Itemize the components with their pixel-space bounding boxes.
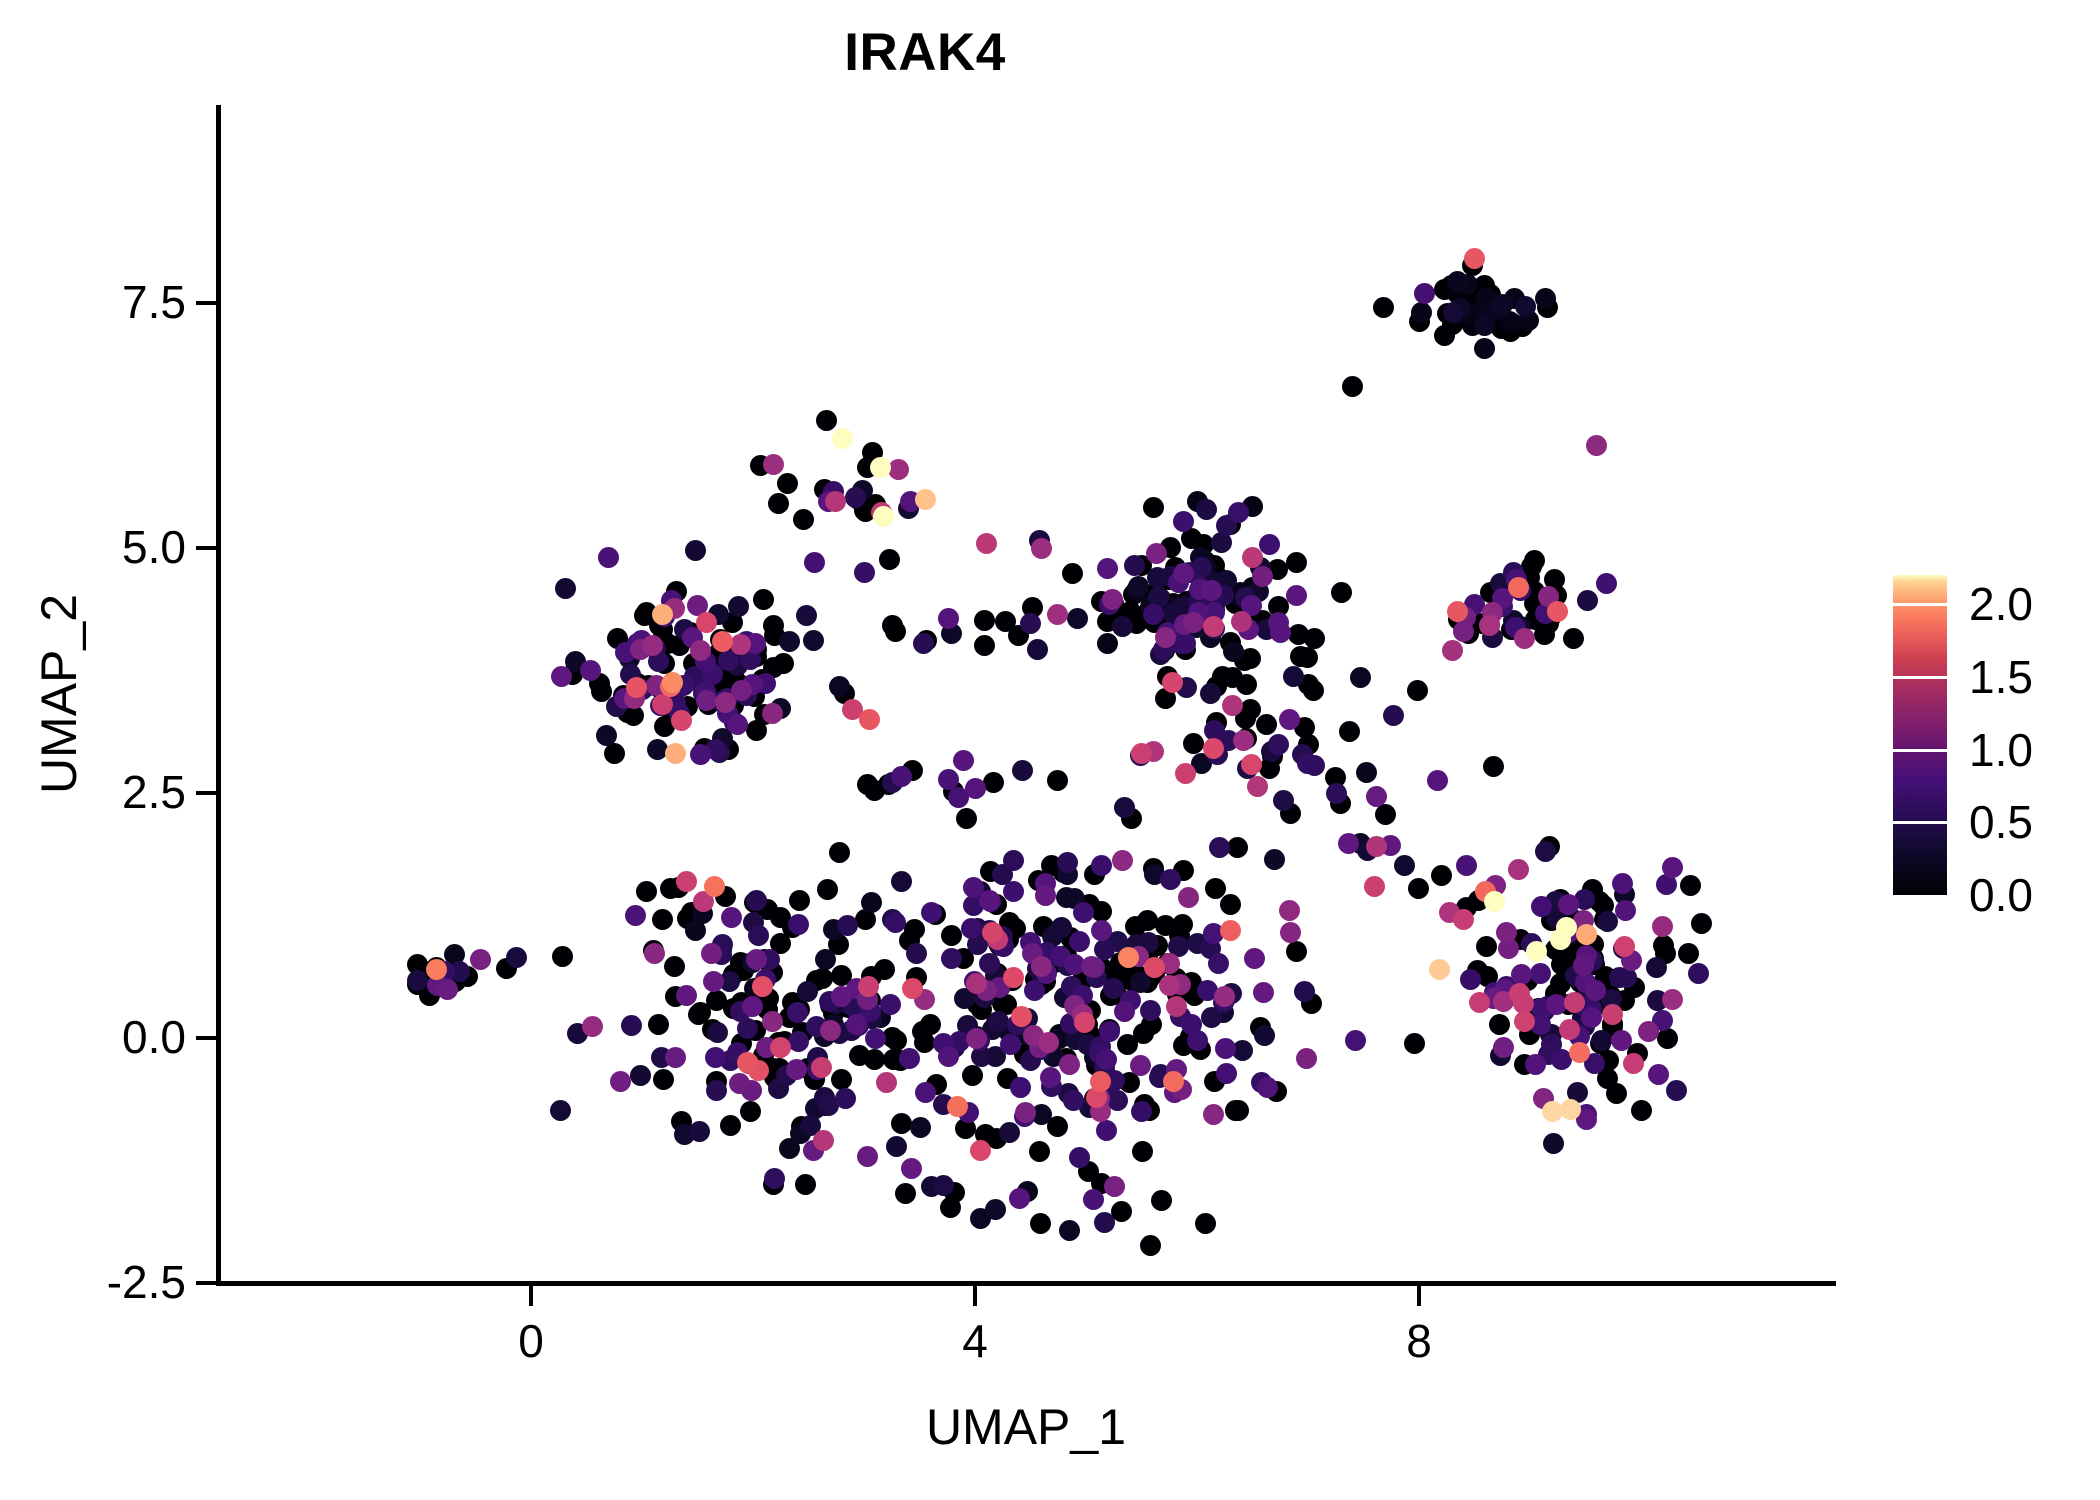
scatter-point: [555, 578, 576, 599]
x-tick-mark: [973, 1286, 977, 1306]
scatter-point: [1535, 841, 1556, 862]
scatter-point: [1003, 967, 1024, 988]
scatter-point: [1375, 804, 1396, 825]
scatter-point: [1526, 941, 1547, 962]
scatter-point: [1130, 1055, 1151, 1076]
scatter-point: [861, 892, 882, 913]
scatter-point: [879, 549, 900, 570]
scatter-point: [1244, 948, 1265, 969]
scatter-point: [1214, 986, 1235, 1007]
scatter-point: [885, 912, 906, 933]
colorbar-legend: 2.01.51.00.50.0: [1893, 575, 2093, 905]
scatter-point: [1146, 543, 1167, 564]
x-tick-mark: [529, 1286, 533, 1306]
scatter-point: [1031, 538, 1052, 559]
scatter-point: [437, 979, 458, 1000]
scatter-point: [1020, 613, 1041, 634]
scatter-point: [1612, 873, 1633, 894]
scatter-point: [1128, 576, 1149, 597]
scatter-point: [1414, 283, 1435, 304]
scatter-point: [1254, 1025, 1275, 1046]
scatter-point: [1143, 497, 1164, 518]
scatter-point: [763, 454, 784, 475]
scatter-point: [915, 1082, 936, 1103]
scatter-point: [1203, 1104, 1224, 1125]
scatter-point: [1059, 1220, 1080, 1241]
scatter-point: [829, 842, 850, 863]
scatter-point: [787, 1002, 808, 1023]
scatter-point: [1124, 555, 1145, 576]
scatter-point: [899, 1048, 920, 1069]
scatter-point: [1350, 667, 1371, 688]
scatter-point: [1394, 855, 1415, 876]
scatter-point: [1270, 622, 1291, 643]
scatter-point: [1453, 909, 1474, 930]
scatter-point: [1543, 1133, 1564, 1154]
scatter-point: [1200, 683, 1221, 704]
scatter-point: [1460, 969, 1481, 990]
scatter-point: [1474, 338, 1495, 359]
scatter-point: [983, 772, 1004, 793]
scatter-point: [685, 540, 706, 561]
scatter-point: [857, 1146, 878, 1167]
scatter-point: [1662, 857, 1683, 878]
scatter-point: [689, 1121, 710, 1142]
scatter-point: [1132, 1141, 1153, 1162]
scatter-point: [803, 630, 824, 651]
x-tick-mark: [1417, 1286, 1421, 1306]
scatter-point: [857, 774, 878, 795]
scatter-point: [1456, 855, 1477, 876]
scatter-point: [1342, 376, 1363, 397]
scatter-point: [1208, 953, 1229, 974]
colorbar-tick-mark: [1893, 821, 1947, 824]
scatter-point: [1220, 920, 1241, 941]
scatter-point: [1009, 1188, 1030, 1209]
scatter-point: [1117, 1034, 1138, 1055]
scatter-point: [652, 909, 673, 930]
scatter-point: [1233, 730, 1254, 751]
scatter-point: [817, 879, 838, 900]
scatter-point: [707, 1022, 728, 1043]
scatter-point: [941, 925, 962, 946]
scatter-point: [1542, 1101, 1563, 1122]
scatter-point: [1151, 1190, 1172, 1211]
scatter-point: [912, 1021, 933, 1042]
scatter-point: [737, 1052, 758, 1073]
scatter-point: [891, 871, 912, 892]
scatter-point: [1514, 628, 1535, 649]
x-tick-label: 4: [915, 1318, 1035, 1364]
scatter-point: [970, 1140, 991, 1161]
scatter-point: [1175, 763, 1196, 784]
scatter-point: [1356, 762, 1377, 783]
scatter-point: [665, 1047, 686, 1068]
scatter-point: [662, 672, 683, 693]
scatter-point: [1447, 271, 1468, 292]
scatter-point: [1183, 733, 1204, 754]
scatter-point: [1059, 1054, 1080, 1075]
scatter-point: [1483, 756, 1504, 777]
scatter-point: [1535, 288, 1556, 309]
scatter-point: [1493, 1037, 1514, 1058]
scatter-point: [1383, 705, 1404, 726]
y-tick-mark: [196, 1281, 216, 1285]
scatter-point: [1496, 922, 1517, 943]
scatter-point: [630, 1065, 651, 1086]
scatter-point: [1112, 850, 1133, 871]
scatter-point: [1003, 881, 1024, 902]
scatter-point: [644, 943, 665, 964]
scatter-point: [982, 922, 1003, 943]
scatter-point: [1509, 983, 1530, 1004]
y-tick-label: 0.0: [122, 1014, 186, 1060]
scatter-point: [835, 1088, 856, 1109]
scatter-point: [1259, 534, 1280, 555]
scatter-point: [1531, 896, 1552, 917]
scatter-point: [704, 876, 725, 897]
scatter-point: [1256, 714, 1277, 735]
y-tick-mark: [196, 301, 216, 305]
scatter-point: [706, 1080, 727, 1101]
scatter-point: [1104, 1176, 1125, 1197]
scatter-point: [891, 766, 912, 787]
colorbar-tick-mark: [1893, 603, 1947, 606]
scatter-point: [1195, 1213, 1216, 1234]
scatter-point: [1596, 573, 1617, 594]
scatter-point: [753, 589, 774, 610]
scatter-point: [888, 459, 909, 480]
scatter-point: [1294, 981, 1315, 1002]
scatter-point: [1666, 1080, 1687, 1101]
scatter-point: [1196, 499, 1217, 520]
scatter-point: [610, 1071, 631, 1092]
scatter-point: [854, 562, 875, 583]
scatter-point: [580, 660, 601, 681]
scatter-point: [985, 1199, 1006, 1220]
scatter-point: [696, 612, 717, 633]
scatter-point: [921, 902, 942, 923]
scatter-point: [1443, 302, 1464, 323]
scatter-point: [1615, 900, 1636, 921]
scatter-point: [1268, 734, 1289, 755]
scatter-point: [902, 978, 923, 999]
scatter-point: [1591, 1030, 1612, 1051]
scatter-point: [1096, 1120, 1117, 1141]
scatter-point: [906, 943, 927, 964]
scatter-point: [551, 666, 572, 687]
scatter-point: [1010, 1077, 1031, 1098]
scatter-point: [1114, 797, 1135, 818]
scatter-point: [829, 676, 850, 697]
scatter-point: [786, 1059, 807, 1080]
scatter-point: [965, 778, 986, 799]
scatter-point: [788, 914, 809, 935]
scatter-point: [1097, 633, 1118, 654]
scatter-point: [642, 635, 663, 656]
scatter-point: [648, 1014, 669, 1035]
scatter-point: [664, 956, 685, 977]
scatter-point: [880, 994, 901, 1015]
scatter-point: [1296, 1048, 1317, 1069]
y-tick-mark: [196, 1036, 216, 1040]
scatter-point: [1209, 837, 1230, 858]
scatter-point: [653, 1069, 674, 1090]
scatter-point: [1201, 580, 1222, 601]
scatter-point: [999, 1122, 1020, 1143]
scatter-point: [1611, 1030, 1632, 1051]
scatter-point: [1012, 760, 1033, 781]
scatter-point: [886, 1136, 907, 1157]
scatter-point: [621, 1015, 642, 1036]
scatter-point: [773, 653, 794, 674]
colorbar-tick-mark: [1893, 676, 1947, 679]
scatter-point: [1411, 302, 1432, 323]
scatter-point: [1525, 1054, 1546, 1075]
y-tick-label: -2.5: [107, 1259, 186, 1305]
scatter-point: [1227, 837, 1248, 858]
x-tick-label: 0: [471, 1318, 591, 1364]
scatter-point: [1155, 915, 1176, 936]
y-tick-label: 7.5: [122, 279, 186, 325]
scatter-point: [1404, 1033, 1425, 1054]
scatter-point: [1220, 894, 1241, 915]
colorbar-tick-mark: [1893, 749, 1947, 752]
scatter-point: [604, 743, 625, 764]
scatter-point: [915, 489, 936, 510]
scatter-point: [1038, 1032, 1059, 1053]
scatter-point: [793, 509, 814, 530]
scatter-point: [1063, 1090, 1084, 1111]
scatter-point: [671, 710, 692, 731]
scatter-point: [1051, 917, 1072, 938]
scatter-point: [1286, 552, 1307, 573]
scatter-point: [1479, 615, 1500, 636]
scatter-point: [895, 1183, 916, 1204]
y-tick-mark: [196, 546, 216, 550]
scatter-point: [1228, 1100, 1249, 1121]
scatter-point: [768, 493, 789, 514]
y-tick-mark: [196, 791, 216, 795]
scatter-point: [764, 1168, 785, 1189]
scatter-point: [1678, 943, 1699, 964]
y-axis-line: [216, 105, 221, 1285]
scatter-point: [550, 1100, 571, 1121]
scatter-point: [1112, 616, 1133, 637]
scatter-point: [1241, 754, 1262, 775]
scatter-point: [1118, 947, 1139, 968]
scatter-point: [777, 473, 798, 494]
x-tick-label: 8: [1359, 1318, 1479, 1364]
scatter-point: [1614, 936, 1635, 957]
scatter-point: [1581, 1007, 1602, 1028]
scatter-point: [870, 457, 891, 478]
scatter-point: [1631, 1100, 1652, 1121]
scatter-point: [1511, 964, 1532, 985]
scatter-point: [979, 953, 1000, 974]
scatter-point: [696, 690, 717, 711]
scatter-point: [1067, 608, 1088, 629]
scatter-point: [1178, 887, 1199, 908]
scatter-point: [1469, 992, 1490, 1013]
scatter-point: [1069, 931, 1090, 952]
scatter-point: [1091, 920, 1112, 941]
scatter-point: [1652, 916, 1673, 937]
x-axis-line: [216, 1281, 1836, 1286]
scatter-point: [864, 1049, 885, 1070]
scatter-point: [1257, 1077, 1278, 1098]
scatter-point: [748, 925, 769, 946]
scatter-point: [762, 1011, 783, 1032]
scatter-point: [720, 1115, 741, 1136]
scatter-point: [1474, 315, 1495, 336]
scatter-point: [938, 1046, 959, 1067]
scatter-point: [1252, 566, 1273, 587]
scatter-point: [705, 1047, 726, 1068]
colorbar-tick-label: 1.5: [1969, 654, 2033, 700]
scatter-point: [796, 605, 817, 626]
scatter-point: [1081, 956, 1102, 977]
scatter-point: [1489, 1014, 1510, 1035]
scatter-point: [1484, 891, 1505, 912]
scatter-point: [956, 808, 977, 829]
scatter-point: [625, 905, 646, 926]
scatter-point: [962, 1065, 983, 1086]
scatter-point: [974, 635, 995, 656]
scatter-point: [690, 744, 711, 765]
scatter-point: [1373, 297, 1394, 318]
scatter-point: [882, 615, 903, 636]
scatter-points-layer: [0, 0, 2100, 1500]
scatter-point: [1286, 585, 1307, 606]
scatter-point: [582, 1016, 603, 1037]
scatter-point: [1476, 936, 1497, 957]
scatter-point: [1691, 913, 1712, 934]
y-tick-label: 5.0: [122, 524, 186, 570]
scatter-point: [1027, 639, 1048, 660]
scatter-point: [1286, 941, 1307, 962]
scatter-point: [1530, 963, 1551, 984]
colorbar-tick-label: 0.5: [1969, 799, 2033, 845]
scatter-point: [789, 890, 810, 911]
scatter-point: [1366, 836, 1387, 857]
colorbar-tick-label: 0.0: [1969, 872, 2033, 918]
scatter-point: [552, 946, 573, 967]
scatter-point: [1000, 1034, 1021, 1055]
scatter-point: [1623, 1053, 1644, 1074]
scatter-point: [795, 1174, 816, 1195]
scatter-point: [1175, 633, 1196, 654]
scatter-point: [966, 1028, 987, 1049]
scatter-point: [966, 973, 987, 994]
scatter-point: [910, 1117, 931, 1138]
scatter-point: [1303, 680, 1324, 701]
scatter-point: [1560, 1099, 1581, 1120]
x-axis-label: UMAP_1: [216, 1398, 1836, 1456]
scatter-point: [788, 1031, 809, 1052]
scatter-point: [1339, 721, 1360, 742]
scatter-point: [1547, 601, 1568, 622]
scatter-point: [947, 1096, 968, 1117]
scatter-point: [1062, 563, 1083, 584]
scatter-point: [1047, 770, 1068, 791]
scatter-point: [1304, 628, 1325, 649]
scatter-point: [1408, 878, 1429, 899]
scatter-point: [740, 1101, 761, 1122]
scatter-point: [1345, 1030, 1366, 1051]
scatter-point: [596, 725, 617, 746]
scatter-point: [721, 907, 742, 928]
scatter-point: [712, 631, 733, 652]
scatter-point: [1638, 1021, 1659, 1042]
scatter-point: [746, 720, 767, 741]
scatter-point: [729, 1073, 750, 1094]
scatter-point: [1160, 869, 1181, 890]
scatter-point: [1429, 959, 1450, 980]
scatter-point: [1035, 885, 1056, 906]
scatter-point: [846, 1014, 867, 1035]
scatter-point: [1159, 975, 1180, 996]
scatter-point: [1364, 876, 1385, 897]
scatter-point: [797, 981, 818, 1002]
scatter-point: [1662, 989, 1683, 1010]
scatter-point: [825, 491, 846, 512]
scatter-point: [1407, 680, 1428, 701]
scatter-point: [859, 709, 880, 730]
scatter-point: [1514, 1011, 1535, 1032]
scatter-point: [506, 947, 527, 968]
scatter-point: [1069, 1147, 1090, 1168]
scatter-point: [933, 1175, 954, 1196]
scatter-point: [728, 596, 749, 617]
scatter-point: [1648, 1064, 1669, 1085]
scatter-point: [837, 915, 858, 936]
scatter-point: [1646, 957, 1667, 978]
scatter-point: [1094, 1212, 1115, 1233]
scatter-point: [1140, 1000, 1161, 1021]
scatter-point: [1326, 783, 1347, 804]
scatter-point: [953, 750, 974, 771]
scatter-point: [1556, 917, 1577, 938]
scatter-point: [1114, 1001, 1135, 1022]
scatter-point: [1097, 558, 1118, 579]
scatter-point: [1585, 980, 1606, 1001]
scatter-point: [845, 487, 866, 508]
scatter-point: [813, 1130, 834, 1151]
scatter-point: [1297, 647, 1318, 668]
scatter-point: [1442, 640, 1463, 661]
scatter-point: [1680, 875, 1701, 896]
scatter-point: [470, 949, 491, 970]
scatter-point: [974, 610, 995, 631]
scatter-point: [1099, 1021, 1120, 1042]
scatter-point: [1559, 1019, 1580, 1040]
scatter-point: [1015, 1102, 1036, 1123]
scatter-point: [1231, 611, 1252, 632]
scatter-point: [988, 1011, 1009, 1032]
y-tick-label: 2.5: [122, 769, 186, 815]
scatter-point: [407, 970, 428, 991]
colorbar-gradient: [1893, 575, 1947, 895]
scatter-point: [873, 506, 894, 527]
scatter-point: [1273, 790, 1294, 811]
scatter-point: [901, 1158, 922, 1179]
scatter-point: [426, 959, 447, 980]
scatter-point: [1688, 963, 1709, 984]
scatter-point: [865, 1028, 886, 1049]
scatter-point: [961, 918, 982, 939]
scatter-point: [1047, 604, 1068, 625]
